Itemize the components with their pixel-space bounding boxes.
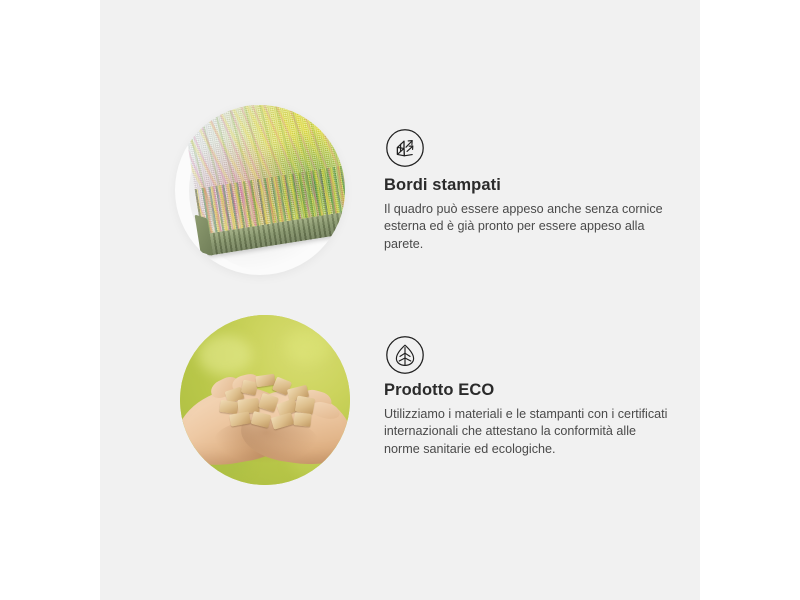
wood-chip [229,411,251,426]
bokeh-spot [285,329,331,363]
wood-chip [219,400,238,414]
canvas-fold-arrow-icon [385,128,425,168]
canvas-corner-illustration [180,105,345,275]
feature-title: Bordi stampati [384,175,670,195]
leaf-icon [385,335,425,375]
wood-chips-pile [216,373,320,429]
feature-eco-product: Prodotto ECO Utilizziamo i materiali e l… [100,305,700,505]
wood-chip [251,411,272,428]
bokeh-spot [198,335,252,375]
eco-product-text: Prodotto ECO Utilizziamo i materiali e l… [384,380,670,458]
canvas-corner-photo [175,105,345,275]
feature-printed-edges: Bordi stampati Il quadro può essere appe… [100,95,700,295]
hands-wood-chips-photo [180,315,350,485]
printed-edges-text: Bordi stampati Il quadro può essere appe… [384,175,670,253]
wood-chip [258,393,279,413]
wood-chip [293,412,311,427]
feature-description: Utilizziamo i materiali e le stampanti c… [384,406,670,458]
feature-title: Prodotto ECO [384,380,670,400]
content-panel: Bordi stampati Il quadro può essere appe… [100,0,700,600]
feature-description: Il quadro può essere appeso anche senza … [384,201,670,253]
wood-chip [271,412,294,429]
infographic-stage: Bordi stampati Il quadro può essere appe… [0,0,800,600]
